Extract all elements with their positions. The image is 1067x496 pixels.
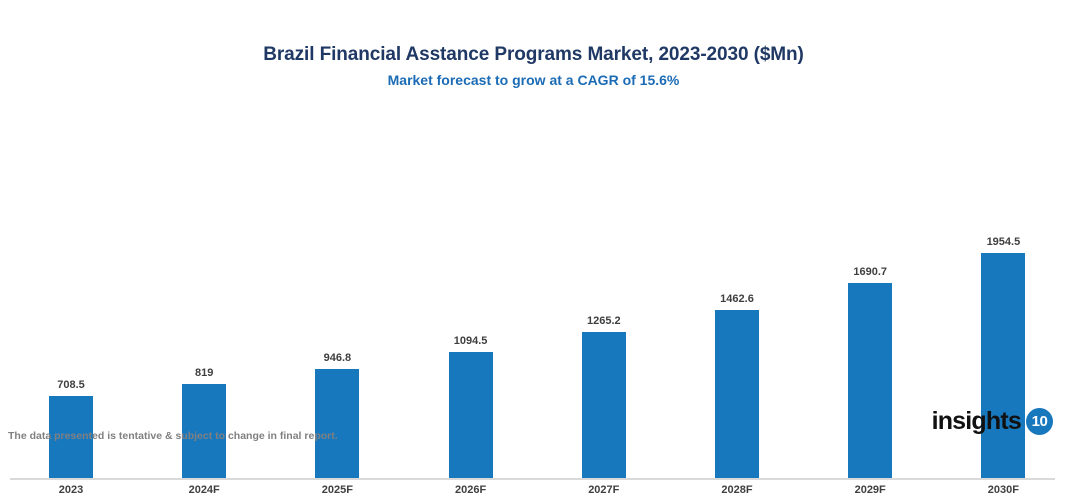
- bar[interactable]: [715, 310, 759, 478]
- insights10-logo: insights 10: [932, 408, 1053, 435]
- bar-value-label: 1690.7: [810, 266, 930, 278]
- x-axis-tick-label: 2025F: [277, 484, 397, 496]
- x-axis-line: [10, 478, 1055, 480]
- x-axis-tick-label: 2024F: [144, 484, 264, 496]
- page-title: Brazil Financial Asstance Programs Marke…: [0, 44, 1067, 66]
- bar-value-label: 946.8: [277, 352, 397, 364]
- bar[interactable]: [315, 369, 359, 478]
- bar-value-label: 1462.6: [677, 293, 797, 305]
- bar[interactable]: [449, 352, 493, 478]
- x-axis-tick-label: 2027F: [544, 484, 664, 496]
- bar[interactable]: [848, 283, 892, 478]
- bar-value-label: 1265.2: [544, 315, 664, 327]
- logo-wordmark: insights: [932, 409, 1021, 434]
- bar-value-label: 708.5: [11, 379, 131, 391]
- bar[interactable]: [582, 332, 626, 478]
- page-subtitle: Market forecast to grow at a CAGR of 15.…: [0, 72, 1067, 88]
- chart-canvas: Brazil Financial Asstance Programs Marke…: [0, 0, 1067, 454]
- bar-chart-plot: 708.520238192024F946.82025F1094.52026F12…: [0, 100, 1067, 380]
- x-axis-tick-label: 2029F: [810, 484, 930, 496]
- bar-value-label: 1954.5: [943, 236, 1063, 248]
- bar-value-label: 1094.5: [411, 335, 531, 347]
- bar-value-label: 819: [144, 367, 264, 379]
- x-axis-tick-label: 2028F: [677, 484, 797, 496]
- x-axis-tick-label: 2030F: [943, 484, 1063, 496]
- disclaimer-note: The data presented is tentative & subjec…: [8, 430, 338, 442]
- bar[interactable]: [981, 253, 1025, 478]
- logo-badge-icon: 10: [1026, 408, 1053, 435]
- x-axis-tick-label: 2023: [11, 484, 131, 496]
- x-axis-tick-label: 2026F: [411, 484, 531, 496]
